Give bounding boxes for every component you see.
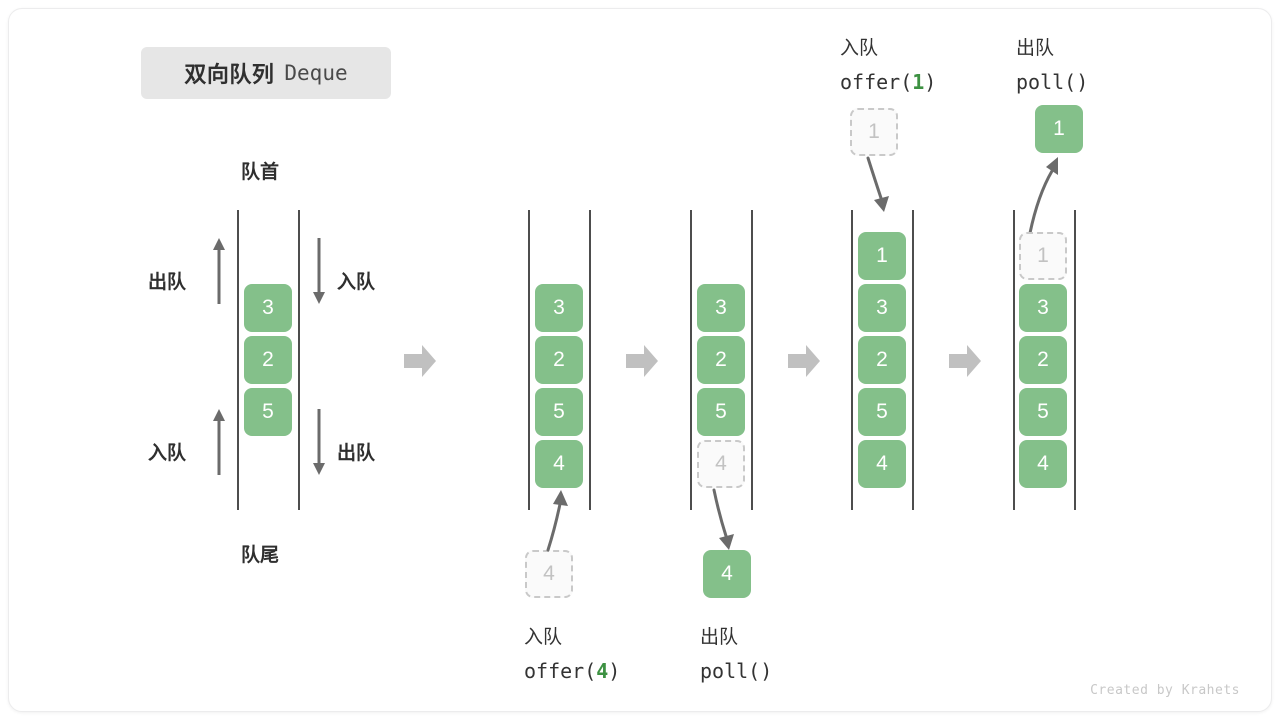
step-arrow-2-icon [626, 344, 658, 378]
diagram-canvas: 双向队列 Deque 队首 队尾 3 2 5 出队 入队 入队 出队 3 2 5… [0, 0, 1280, 720]
tail-label: 队尾 [241, 540, 279, 567]
panel2-code-post: ) [608, 659, 620, 683]
panel2-cell-1: 2 [535, 336, 583, 384]
panel3-caption-code: poll() [700, 659, 772, 683]
panel3-code-post: ) [760, 659, 772, 683]
panel3-cell-0: 3 [697, 284, 745, 332]
panel5-cell-2: 5 [1019, 388, 1067, 436]
panel5-cell-3: 4 [1019, 440, 1067, 488]
panel4-offer-arrow-icon [850, 156, 900, 214]
step-arrow-1-icon [404, 344, 436, 378]
panel2-caption-code: offer(4) [524, 659, 620, 683]
panel4-cell-1: 3 [858, 284, 906, 332]
arrow-up-front-out-icon [211, 236, 227, 306]
panel4-external-ghost-cell: 1 [850, 108, 898, 156]
panel2-code-pre: offer( [524, 659, 596, 683]
panel2-code-arg: 4 [596, 659, 608, 683]
panel5-caption-code: poll() [1016, 70, 1088, 94]
panel5-code-pre: poll( [1016, 70, 1076, 94]
panel1-cell-2: 5 [244, 388, 292, 436]
panel2-rail-left [528, 210, 530, 510]
panel1-cell-0: 3 [244, 284, 292, 332]
arrow-down-rear-out-icon [311, 407, 327, 477]
title-badge: 双向队列 Deque [141, 47, 391, 99]
panel3-poll-arrow-icon [698, 488, 748, 552]
title-english: Deque [284, 61, 347, 85]
panel3-external-cell: 4 [703, 550, 751, 598]
panel2-external-ghost-cell: 4 [525, 550, 573, 598]
panel3-inner-ghost-cell: 4 [697, 440, 745, 488]
panel1-cell-1: 2 [244, 336, 292, 384]
panel5-inner-ghost-cell: 1 [1019, 232, 1067, 280]
panel2-caption-cn: 入队 [524, 622, 562, 649]
panel3-rail-left [690, 210, 692, 510]
panel2-cell-2: 5 [535, 388, 583, 436]
panel3-code-pre: poll( [700, 659, 760, 683]
panel1-rail-right [298, 210, 300, 510]
panel5-caption-cn: 出队 [1016, 33, 1054, 60]
panel3-rail-right [751, 210, 753, 510]
label-enqueue-top-right: 入队 [337, 267, 375, 294]
arrow-up-rear-in-icon [211, 407, 227, 477]
panel5-cell-1: 2 [1019, 336, 1067, 384]
title-chinese: 双向队列 [184, 57, 274, 89]
panel2-rail-right [589, 210, 591, 510]
panel2-cell-0: 3 [535, 284, 583, 332]
panel5-code-post: ) [1076, 70, 1088, 94]
panel5-rail-left [1013, 210, 1015, 510]
panel4-cell-3: 5 [858, 388, 906, 436]
panel5-poll-arrow-icon [1018, 153, 1068, 235]
panel4-code-arg: 1 [912, 70, 924, 94]
panel4-cell-4: 4 [858, 440, 906, 488]
label-dequeue-top-left: 出队 [148, 267, 186, 294]
panel4-cell-0: 1 [858, 232, 906, 280]
step-arrow-4-icon [949, 344, 981, 378]
panel3-caption-cn: 出队 [700, 622, 738, 649]
panel5-rail-right [1074, 210, 1076, 510]
panel4-caption-code: offer(1) [840, 70, 936, 94]
panel3-cell-1: 2 [697, 336, 745, 384]
panel3-cell-2: 5 [697, 388, 745, 436]
panel4-rail-right [912, 210, 914, 510]
panel5-cell-0: 3 [1019, 284, 1067, 332]
label-dequeue-bottom-right: 出队 [337, 438, 375, 465]
panel4-caption-cn: 入队 [840, 33, 878, 60]
head-label: 队首 [241, 157, 279, 184]
step-arrow-3-icon [788, 344, 820, 378]
panel5-external-cell: 1 [1035, 105, 1083, 153]
footer-credit: Created by Krahets [1090, 683, 1240, 698]
panel4-code-post: ) [924, 70, 936, 94]
panel2-cell-3: 4 [535, 440, 583, 488]
panel4-cell-2: 2 [858, 336, 906, 384]
panel4-rail-left [851, 210, 853, 510]
panel2-offer-arrow-icon [530, 488, 580, 552]
panel1-rail-left [237, 210, 239, 510]
panel4-code-pre: offer( [840, 70, 912, 94]
label-enqueue-bottom-left: 入队 [148, 438, 186, 465]
arrow-down-front-in-icon [311, 236, 327, 306]
